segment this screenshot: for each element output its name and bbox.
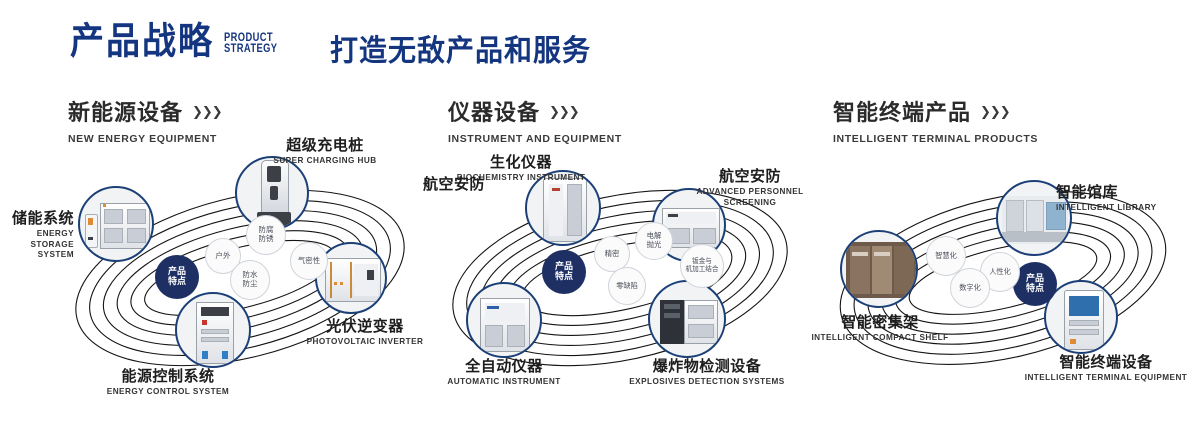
- feature-line1: 户外: [215, 252, 230, 261]
- caption-photovoltaic-inverter: 光伏逆变器 PHOTOVOLTAIC INVERTER: [295, 318, 435, 348]
- hub-product-features[interactable]: 产品 特点: [155, 255, 199, 299]
- caption-explosives-detection-systems: 爆炸物检测设备 EXPLOSIVES DETECTION SYSTEMS: [622, 358, 792, 388]
- caption-en: SUPER CHARGING HUB: [255, 156, 395, 166]
- feature-bubble-digitalized[interactable]: 数字化: [950, 268, 990, 308]
- caption-intelligent-compact-shelf: 智能密集架 INTELLIGENT COMPACT SHELF: [810, 314, 950, 344]
- caption-en: ADVANCED PERSONNEL SCREENING: [680, 187, 820, 208]
- control-cabinet-icon: [177, 294, 249, 366]
- caption-automatic-instrument: 全自动仪器 AUTOMATIC INSTRUMENT: [434, 358, 574, 388]
- caption-cn: 全自动仪器: [434, 358, 574, 375]
- feature-bubble-sheetmetal-machining[interactable]: 钣金与 机加工结合: [680, 244, 724, 288]
- section-title-cn: 仪器设备: [448, 95, 540, 127]
- caption-cn: 智能密集架: [810, 314, 950, 331]
- caption-advanced-personnel-screening: 航空安防 ADVANCED PERSONNEL SCREENING: [680, 168, 820, 208]
- diagram-group-intelligent-terminal: 智能馆库 INTELLIGENT LIBRARY 智能密集架 INTELLIGE…: [818, 150, 1188, 390]
- feature-bubble-zero-defect[interactable]: 零缺陷: [608, 267, 646, 305]
- section-title-en: INSTRUMENT AND EQUIPMENT: [448, 133, 622, 145]
- caption-cn: 航空安防: [395, 176, 485, 193]
- feature-line1: 零缺陷: [616, 282, 638, 290]
- section-title-cn: 新能源设备: [68, 95, 183, 127]
- caption-cn: 生化仪器: [456, 154, 586, 171]
- caption-en: INTELLIGENT LIBRARY: [1056, 203, 1196, 213]
- poster-title-en: PRODUCT STRATEGY: [224, 32, 277, 54]
- feature-bubble-airtightness[interactable]: 气密性: [290, 242, 328, 280]
- caption-intelligent-library: 智能馆库 INTELLIGENT LIBRARY: [1056, 184, 1196, 214]
- terminal-kiosk-icon: [1046, 282, 1116, 352]
- section-heading-instrument: 仪器设备 ❯❯❯ INSTRUMENT AND EQUIPMENT: [448, 95, 622, 145]
- feature-line2: 机加工结合: [686, 266, 719, 274]
- caption-cn: 航空安防: [680, 168, 820, 185]
- poster-canvas: 产品战略 PRODUCT STRATEGY 打造无敌产品和服务 新能源设备 ❯❯…: [0, 0, 1200, 422]
- chevron-right-icon: ❯❯❯: [980, 105, 1010, 118]
- feature-line1: 数字化: [959, 284, 981, 292]
- feature-line2: 防锈: [258, 235, 273, 244]
- hub-line1: 产品: [1026, 274, 1044, 284]
- section-heading-new-energy: 新能源设备 ❯❯❯ NEW ENERGY EQUIPMENT: [68, 95, 222, 145]
- feature-line1: 智慧化: [935, 252, 957, 260]
- caption-en: PHOTOVOLTAIC INVERTER: [295, 337, 435, 347]
- hub-line1: 产品: [555, 262, 573, 272]
- caption-en: AUTOMATIC INSTRUMENT: [434, 377, 574, 387]
- poster-slogan: 打造无敌产品和服务: [330, 28, 591, 70]
- hub-line2: 特点: [555, 272, 573, 282]
- caption-en: ENERGY CONTROL SYSTEM: [83, 387, 253, 397]
- caption-energy-control-system: 能源控制系统 ENERGY CONTROL SYSTEM: [83, 368, 253, 398]
- feature-line1: 气密性: [298, 257, 320, 266]
- feature-line1: 人性化: [989, 268, 1011, 276]
- explosives-detector-icon: [650, 282, 724, 356]
- section-title-cn: 智能终端产品: [833, 95, 971, 127]
- caption-energy-storage-system: 储能系统 ENERGY STORAGE SYSTEM: [2, 210, 74, 260]
- storage-cabinet-icon: [80, 188, 152, 260]
- feature-line2: 防尘: [242, 280, 257, 289]
- caption-super-charging-hub: 超级充电桩 SUPER CHARGING HUB: [255, 137, 395, 167]
- section-heading-intelligent-terminal: 智能终端产品 ❯❯❯ INTELLIGENT TERMINAL PRODUCTS: [833, 95, 1038, 145]
- caption-cn: 光伏逆变器: [295, 318, 435, 335]
- chevron-right-icon: ❯❯❯: [549, 105, 579, 118]
- caption-cn: 爆炸物检测设备: [622, 358, 792, 375]
- hub-line2: 特点: [1026, 284, 1044, 294]
- caption-aviation-security-left: 航空安防: [395, 176, 485, 193]
- section-title-en: INTELLIGENT TERMINAL PRODUCTS: [833, 133, 1038, 145]
- caption-en: INTELLIGENT COMPACT SHELF: [810, 333, 950, 343]
- caption-cn: 智能馆库: [1056, 184, 1196, 201]
- node-intelligent-compact-shelf[interactable]: [840, 230, 918, 308]
- caption-en: EXPLOSIVES DETECTION SYSTEMS: [622, 377, 792, 387]
- section-title-en: NEW ENERGY EQUIPMENT: [68, 133, 222, 145]
- node-automatic-instrument[interactable]: [466, 282, 542, 358]
- hub-line1: 产品: [168, 267, 186, 277]
- diagram-group-instrument: 生化仪器 BIOCHEMISTRY INSTRUMENT 航空安防 航空安防 A…: [430, 150, 810, 390]
- poster-header: 产品战略 PRODUCT STRATEGY: [70, 26, 292, 60]
- caption-cn: 能源控制系统: [83, 368, 253, 385]
- feature-line1: 精密: [605, 250, 620, 259]
- feature-bubble-electropolishing[interactable]: 电解 抛光: [635, 222, 673, 260]
- node-energy-control-system[interactable]: [175, 292, 251, 368]
- poster-title-en-line2: STRATEGY: [224, 43, 277, 54]
- caption-en: INTELLIGENT TERMINAL EQUIPMENT: [1016, 373, 1196, 383]
- node-explosives-detection-systems[interactable]: [648, 280, 726, 358]
- feature-bubble-anticorrosion[interactable]: 防腐 防锈: [246, 215, 286, 255]
- diagram-group-new-energy: 储能系统 ENERGY STORAGE SYSTEM 超级充电桩 SUPER C…: [50, 150, 430, 390]
- feature-line2: 抛光: [647, 241, 662, 250]
- auto-instrument-icon: [468, 284, 540, 356]
- inverter-cabinet-icon: [317, 244, 385, 312]
- caption-cn: 超级充电桩: [255, 137, 395, 154]
- compact-shelf-icon: [842, 232, 916, 306]
- hub-product-features[interactable]: 产品 特点: [542, 250, 586, 294]
- caption-cn: 智能终端设备: [1016, 354, 1196, 371]
- node-energy-storage-system[interactable]: [78, 186, 154, 262]
- poster-title-cn: 产品战略: [70, 23, 214, 60]
- feature-bubble-waterproof[interactable]: 防水 防尘: [230, 260, 270, 300]
- caption-cn: 储能系统: [2, 210, 74, 227]
- chevron-right-icon: ❯❯❯: [192, 105, 222, 118]
- caption-en: ENERGY STORAGE SYSTEM: [2, 229, 74, 260]
- caption-intelligent-terminal-equipment: 智能终端设备 INTELLIGENT TERMINAL EQUIPMENT: [1016, 354, 1196, 384]
- hub-line2: 特点: [168, 277, 186, 287]
